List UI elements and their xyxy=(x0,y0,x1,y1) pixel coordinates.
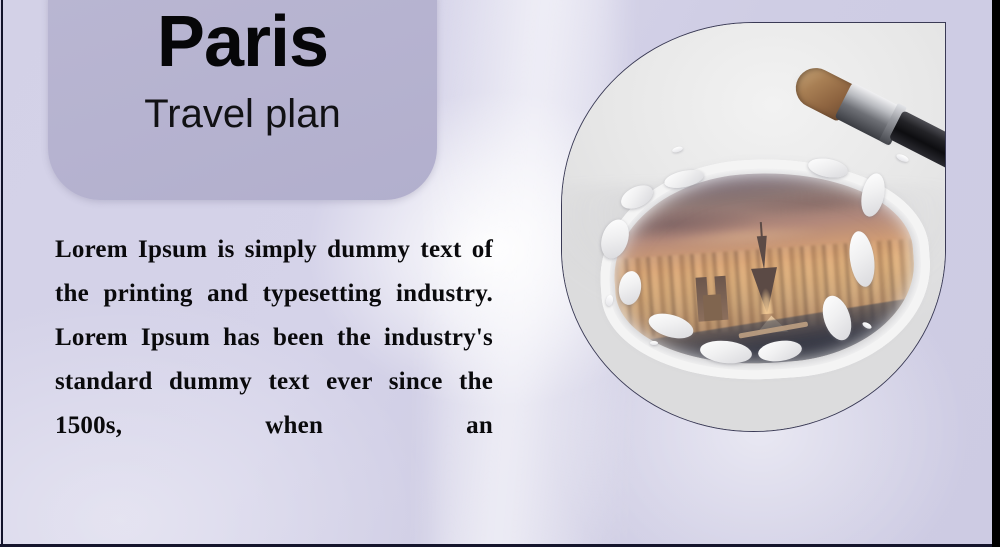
paris-photo[interactable] xyxy=(561,22,946,432)
notre-dame-icon xyxy=(696,276,729,322)
slide-border-right xyxy=(992,0,1000,547)
title-card[interactable]: Paris Travel plan xyxy=(48,0,437,200)
slide-border-left xyxy=(1,0,3,547)
title-card-content: Paris Travel plan xyxy=(48,0,437,200)
slide-canvas: Paris Travel plan Lorem Ipsum is simply … xyxy=(0,0,1000,547)
page-subtitle: Travel plan xyxy=(144,78,340,134)
page-title: Paris xyxy=(157,6,328,78)
body-paragraph: Lorem Ipsum is simply dummy text of the … xyxy=(55,228,493,492)
paint-droplet xyxy=(650,341,658,345)
